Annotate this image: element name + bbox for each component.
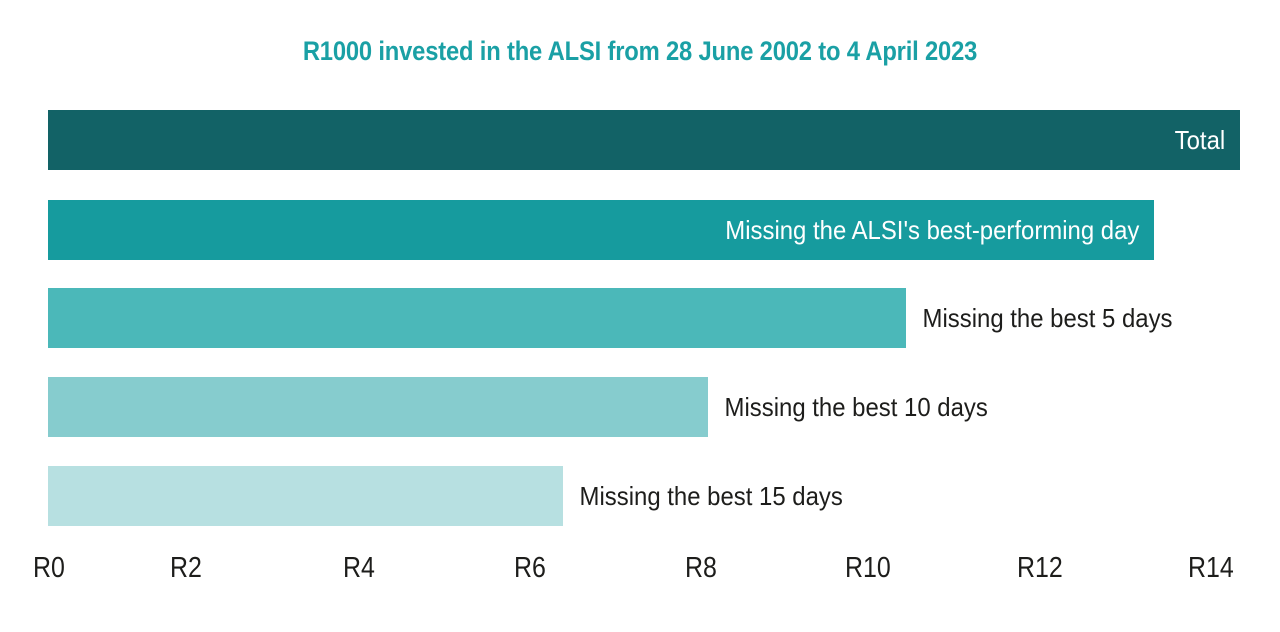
bar-row: Missing the ALSI's best-performing day M… bbox=[48, 200, 1154, 260]
bar-row: Total Total bbox=[48, 110, 1240, 170]
x-tick-label: R2 bbox=[170, 552, 202, 585]
x-axis: R0 R2 R4 R6 R8 R10 R12 R14 bbox=[0, 552, 1280, 600]
bar-missing-best-day[interactable]: Missing the ALSI's best-performing day bbox=[48, 200, 1154, 260]
bar-label-outside: Missing the best 10 days bbox=[708, 392, 988, 423]
bar-label-outside: Missing the best 5 days bbox=[906, 303, 1173, 334]
bar-row: Missing the best 10 days Missing the bes… bbox=[48, 377, 1012, 437]
bar-row: Missing the best 15 days Missing the bes… bbox=[48, 466, 867, 526]
bar-total[interactable]: Total bbox=[48, 110, 1240, 170]
x-tick-label: R10 bbox=[845, 552, 891, 585]
x-tick-label: R4 bbox=[343, 552, 375, 585]
bar-row: Missing the best 5 days Missing the best… bbox=[48, 288, 1195, 348]
x-tick-label: R14 bbox=[1188, 552, 1234, 585]
bar-label: Total bbox=[1175, 125, 1240, 156]
chart-plot-area: Total Total Missing the ALSI's best-perf… bbox=[0, 96, 1280, 546]
bar-missing-best-15-days[interactable]: Missing the best 15 days bbox=[48, 466, 563, 526]
page-title: R1000 invested in the ALSI from 28 June … bbox=[77, 36, 1203, 67]
x-tick-label: R12 bbox=[1017, 552, 1063, 585]
x-tick-label: R6 bbox=[514, 552, 546, 585]
x-tick-label: R0 bbox=[33, 552, 65, 585]
bar-missing-best-10-days[interactable]: Missing the best 10 days bbox=[48, 377, 708, 437]
x-tick-label: R8 bbox=[685, 552, 717, 585]
bar-label-outside: Missing the best 15 days bbox=[563, 481, 843, 512]
bar-missing-best-5-days[interactable]: Missing the best 5 days bbox=[48, 288, 906, 348]
bar-label: Missing the ALSI's best-performing day bbox=[725, 215, 1154, 246]
